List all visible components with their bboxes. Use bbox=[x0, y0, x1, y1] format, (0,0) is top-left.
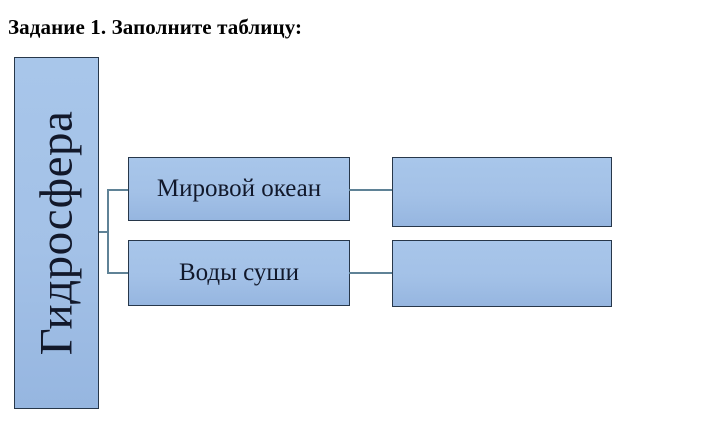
diagram-box-answer-1-label bbox=[393, 158, 611, 226]
diagram-box-answer-2[interactable] bbox=[392, 240, 612, 307]
connector-branch-spine bbox=[107, 189, 109, 273]
diagram-box-root[interactable]: Гидросфера bbox=[14, 57, 99, 409]
page-title: Задание 1. Заполните таблицу: bbox=[8, 14, 302, 40]
diagram-box-branch-2-label: Воды суши bbox=[129, 241, 349, 305]
connector-branch-1 bbox=[107, 189, 129, 191]
diagram-box-root-label: Гидросфера bbox=[33, 111, 80, 356]
diagram-box-answer-1[interactable] bbox=[392, 157, 612, 227]
diagram-box-branch-1[interactable]: Мировой океан bbox=[128, 157, 350, 221]
diagram-box-answer-2-label bbox=[393, 241, 611, 306]
connector-branch-2 bbox=[107, 272, 129, 274]
diagram-box-branch-2[interactable]: Воды суши bbox=[128, 240, 350, 306]
slide-canvas: Задание 1. Заполните таблицу: Гидросфера… bbox=[0, 0, 719, 447]
connector-branch-1-to-answer bbox=[349, 189, 393, 191]
diagram-box-branch-1-label: Мировой океан bbox=[129, 158, 349, 220]
connector-branch-2-to-answer bbox=[349, 272, 393, 274]
